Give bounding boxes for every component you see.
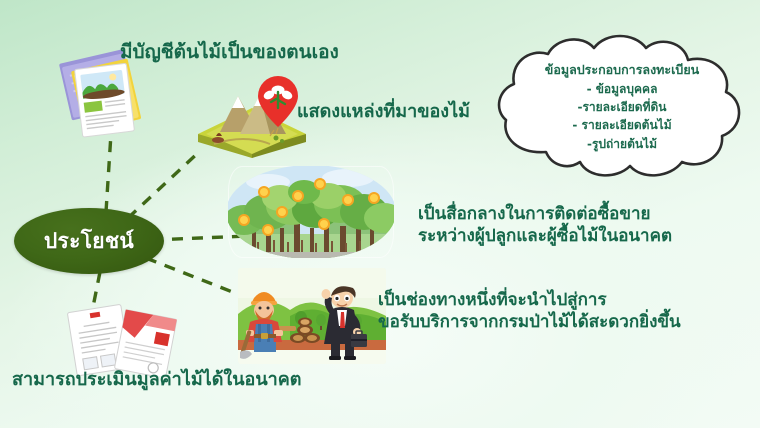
map-location-icon <box>192 68 312 160</box>
forest-coins-icon <box>228 166 394 258</box>
benefit-label-service: เป็นช่องทางหนึ่งที่จะนำไปสู่การ ขอรับบริ… <box>378 289 681 334</box>
benefit-label-trade-medium-line1: เป็นสื่อกลางในการติดต่อซื้อขาย <box>418 203 672 225</box>
benefit-label-wood-origin: แสดงแหล่งที่มาของไม้ <box>297 100 470 124</box>
lumberjack-buyer-icon <box>238 268 386 364</box>
registration-info-cloud: ข้อมูลประกอบการลงทะเบียน - ข้อมูลบุคคล -… <box>488 34 756 180</box>
benefit-label-trade-medium: เป็นสื่อกลางในการติดต่อซื้อขาย ระหว่างผู… <box>418 203 672 248</box>
cloud-item-2: - รายละเอียดต้นไม้ <box>488 116 756 134</box>
infographic-canvas: ประโยชน์ <box>0 0 760 428</box>
hub-benefits: ประโยชน์ <box>14 208 164 274</box>
cloud-item-1: -รายละเอียดที่ดิน <box>488 98 756 116</box>
benefit-label-service-line2: ขอรับบริการจากกรมป่าไม้ได้สะดวกยิ่งขึ้น <box>378 311 681 333</box>
connector-to-map <box>128 152 199 218</box>
benefit-label-valuation: สามารถประเมินมูลค่าไม้ได้ในอนาคต <box>12 368 301 392</box>
hub-label: ประโยชน์ <box>44 225 134 258</box>
benefit-label-trade-medium-line2: ระหว่างผู้ปลูกและผู้ซื้อไม้ในอนาคต <box>418 225 672 247</box>
cloud-item-3: -รูปถ่ายต้นไม้ <box>488 135 756 153</box>
benefit-label-service-line1: เป็นช่องทางหนึ่งที่จะนำไปสู่การ <box>378 289 681 311</box>
certificates-icon <box>58 300 184 376</box>
cloud-content: ข้อมูลประกอบการลงทะเบียน - ข้อมูลบุคคล -… <box>488 60 756 153</box>
cloud-item-0: - ข้อมูลบุคคล <box>488 80 756 98</box>
cloud-title: ข้อมูลประกอบการลงทะเบียน <box>488 60 756 79</box>
benefit-label-tree-account: มีบัญชีต้นไม้เป็นของตนเอง <box>120 40 339 65</box>
